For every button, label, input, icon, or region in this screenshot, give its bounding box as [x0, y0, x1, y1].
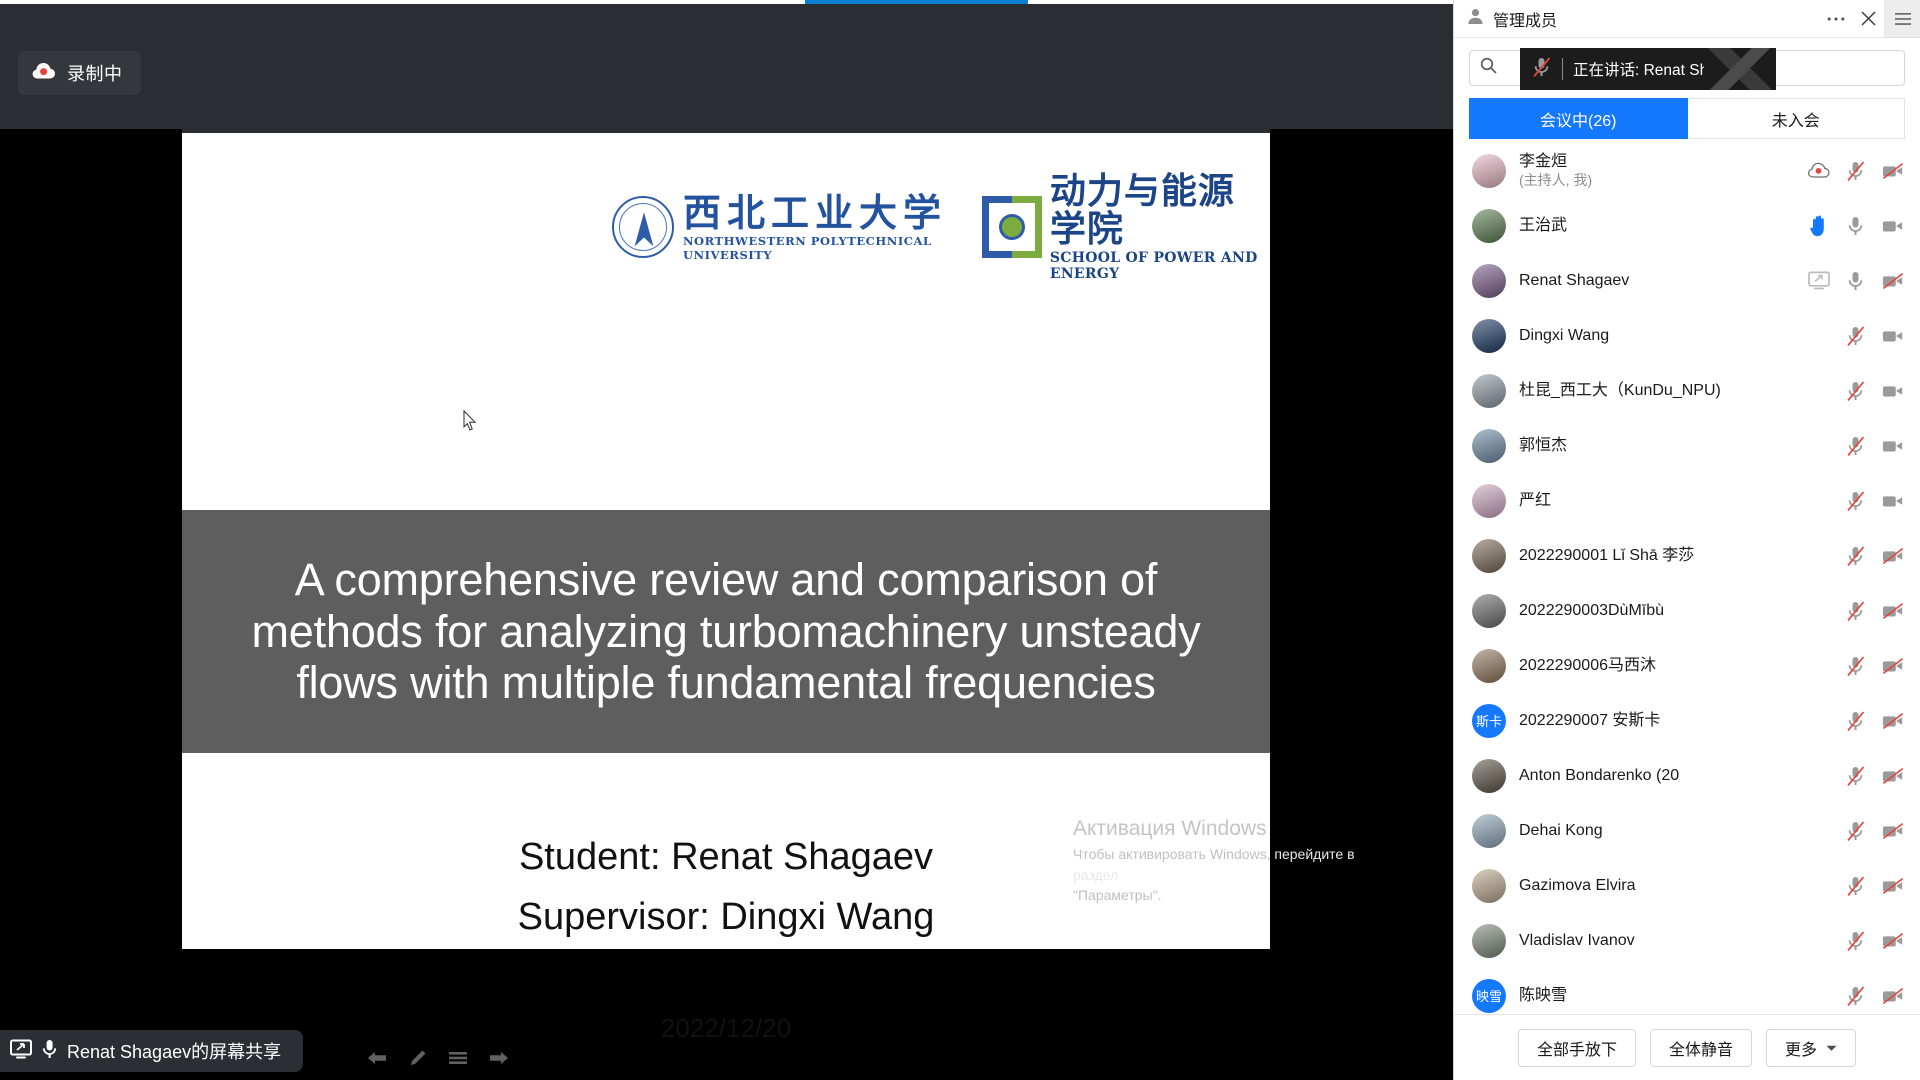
record-cloud-icon[interactable]	[1808, 160, 1830, 182]
menu-icon[interactable]	[449, 1051, 467, 1070]
participant-row[interactable]: Dingxi Wang	[1454, 308, 1920, 363]
video-off-icon[interactable]	[1882, 655, 1904, 677]
participant-name-block: 2022290006马西沐	[1519, 656, 1656, 676]
stage-letterbox-left	[0, 129, 182, 949]
video-off-icon[interactable]	[1882, 270, 1904, 292]
next-arrow-icon[interactable]	[489, 1050, 509, 1071]
participant-status-icons	[1845, 820, 1904, 842]
video-on-icon[interactable]	[1882, 325, 1904, 347]
participant-name-block: Anton Bondarenko (20	[1519, 766, 1679, 786]
avatar	[1472, 869, 1506, 903]
participant-name: Vladislav Ivanov	[1519, 931, 1635, 951]
npu-logo-en: NORTHWESTERN POLYTECHNICAL UNIVERSITY	[683, 234, 952, 262]
screen-share-icon[interactable]	[1808, 270, 1830, 292]
avatar	[1472, 814, 1506, 848]
avatar	[1472, 374, 1506, 408]
recording-indicator[interactable]: 录制中	[18, 51, 141, 95]
video-off-icon[interactable]	[1882, 160, 1904, 182]
mic-muted-icon[interactable]	[1845, 600, 1867, 622]
participant-name-block: Dingxi Wang	[1519, 326, 1609, 346]
participant-name: Gazimova Elvira	[1519, 876, 1635, 896]
mic-muted-icon[interactable]	[1845, 160, 1867, 182]
participant-name: 王治武	[1519, 216, 1567, 236]
avatar	[1472, 264, 1506, 298]
avatar	[1472, 649, 1506, 683]
participant-name-block: 陈映雪	[1519, 986, 1567, 1006]
cloud-record-icon	[32, 62, 56, 85]
avatar	[1472, 539, 1506, 573]
mic-muted-icon[interactable]	[1845, 765, 1867, 787]
ellipsis-icon[interactable]	[1820, 0, 1852, 37]
avatar	[1472, 924, 1506, 958]
avatar	[1472, 759, 1506, 793]
mic-muted-icon[interactable]	[1845, 820, 1867, 842]
participant-status-icons	[1845, 545, 1904, 567]
screen-share-status-text: Renat Shagaev的屏幕共享	[67, 1038, 281, 1064]
participant-name-block: 2022290003DùMībù	[1519, 601, 1664, 621]
chevron-down-icon	[1826, 1039, 1837, 1057]
video-off-icon[interactable]	[1882, 545, 1904, 567]
avatar	[1472, 319, 1506, 353]
mic-muted-icon[interactable]	[1845, 490, 1867, 512]
tab-in-meeting[interactable]: 会议中(26)	[1469, 98, 1688, 139]
zoom-meeting-screen: 录制中 西北工业大学 NORTHWESTERN POLYTECHNICAL UN…	[0, 0, 1920, 1080]
mic-muted-icon[interactable]	[1845, 655, 1867, 677]
participant-row[interactable]: 严红	[1454, 473, 1920, 528]
participant-status-icons	[1845, 655, 1904, 677]
video-on-icon[interactable]	[1882, 215, 1904, 237]
tab-not-joined[interactable]: 未入会	[1688, 98, 1906, 139]
participant-name-block: Vladislav Ivanov	[1519, 931, 1635, 951]
video-off-icon[interactable]	[1882, 600, 1904, 622]
participant-status-icons	[1845, 490, 1904, 512]
panel-header: 管理成员	[1454, 0, 1920, 38]
video-on-icon[interactable]	[1882, 380, 1904, 402]
spe-logo-cn: 动力与能源学院	[1050, 173, 1270, 249]
participant-row[interactable]: 2022290003DùMībù	[1454, 583, 1920, 638]
participant-name: 李金烜	[1519, 152, 1592, 172]
mute-all-button[interactable]: 全体静音	[1650, 1029, 1752, 1067]
video-off-icon[interactable]	[1882, 930, 1904, 952]
presentation-slide: 西北工业大学 NORTHWESTERN POLYTECHNICAL UNIVER…	[182, 133, 1270, 949]
participant-name: 2022290007 安斯卡	[1519, 711, 1660, 731]
panel-title: 管理成员	[1493, 7, 1557, 31]
participant-status-icons	[1845, 875, 1904, 897]
participant-status-icons	[1845, 985, 1904, 1007]
participant-name: Anton Bondarenko (20	[1519, 766, 1679, 786]
mic-muted-icon[interactable]	[1845, 380, 1867, 402]
participant-row[interactable]: Dehai Kong	[1454, 803, 1920, 858]
participant-status-icons	[1845, 380, 1904, 402]
more-button[interactable]: 更多	[1766, 1029, 1856, 1067]
participant-name: Dingxi Wang	[1519, 326, 1609, 346]
participant-name-block: 郭恒杰	[1519, 436, 1567, 456]
npu-seal-icon	[612, 196, 674, 258]
participant-name: 严红	[1519, 491, 1551, 511]
stage-letterbox-right	[1270, 129, 1453, 949]
participant-status-icons	[1845, 710, 1904, 732]
toast-artifact	[1704, 48, 1776, 90]
close-icon[interactable]	[1852, 0, 1884, 37]
mic-muted-icon[interactable]	[1845, 545, 1867, 567]
participant-name: 2022290003DùMībù	[1519, 601, 1664, 621]
slide-body: Student: Renat Shagaev Supervisor: Dingx…	[182, 753, 1270, 949]
participant-status-icons	[1845, 325, 1904, 347]
lower-all-hands-button[interactable]: 全部手放下	[1518, 1029, 1636, 1067]
mic-muted-icon[interactable]	[1845, 985, 1867, 1007]
slide-logo-area: 西北工业大学 NORTHWESTERN POLYTECHNICAL UNIVER…	[182, 133, 1270, 384]
active-speaker-toast: 正在讲话: Renat Shagaev;	[1520, 48, 1776, 90]
participant-status-icons	[1845, 600, 1904, 622]
participant-name-block: Renat Shagaev	[1519, 271, 1629, 291]
avatar: 斯卡	[1472, 704, 1506, 738]
school-of-power-and-energy-logo: 动力与能源学院 SCHOOL OF POWER AND ENERGY	[982, 173, 1270, 282]
slide-student-line: Student: Renat Shagaev	[182, 836, 1270, 879]
ppt-presenter-toolbar[interactable]	[367, 1049, 509, 1072]
video-off-icon[interactable]	[1882, 820, 1904, 842]
raise-hand-icon[interactable]	[1808, 215, 1830, 237]
participant-name: Renat Shagaev	[1519, 271, 1629, 291]
spe-mark-icon	[982, 196, 1042, 258]
slide-title: A comprehensive review and comparison of…	[204, 554, 1249, 709]
participant-name-block: 2022290007 安斯卡	[1519, 711, 1660, 731]
participant-name-block: Gazimova Elvira	[1519, 876, 1635, 896]
participant-name: 杜昆_西工大（KunDu_NPU)	[1519, 381, 1721, 401]
avatar	[1472, 594, 1506, 628]
panel-search-area: 正在讲话: Renat Shagaev;	[1454, 38, 1920, 86]
participant-role: (主持人, 我)	[1519, 172, 1592, 189]
participant-row[interactable]: 2022290006马西沐	[1454, 638, 1920, 693]
participant-status-icons	[1808, 215, 1904, 237]
mic-muted-icon[interactable]	[1845, 875, 1867, 897]
screen-share-status-bar[interactable]: Renat Shagaev的屏幕共享	[0, 1030, 303, 1072]
participant-name-block: Dehai Kong	[1519, 821, 1603, 841]
participant-row[interactable]: Vladislav Ivanov	[1454, 913, 1920, 968]
more-button-label: 更多	[1785, 1036, 1817, 1060]
participant-row[interactable]: 杜昆_西工大（KunDu_NPU)	[1454, 363, 1920, 418]
participant-status-icons	[1845, 930, 1904, 952]
slide-date: 2022/12/20	[182, 1013, 1270, 1044]
video-on-icon[interactable]	[1882, 490, 1904, 512]
slide-supervisor-line: Supervisor: Dingxi Wang	[182, 896, 1270, 939]
participant-name-block: 2022290001 Lǐ Shā 李莎	[1519, 546, 1694, 566]
participant-name: 2022290001 Lǐ Shā 李莎	[1519, 546, 1694, 566]
participant-name-block: 李金烜(主持人, 我)	[1519, 152, 1592, 189]
video-off-icon[interactable]	[1882, 875, 1904, 897]
participant-row[interactable]: 斯卡2022290007 安斯卡	[1454, 693, 1920, 748]
hamburger-icon[interactable]	[1884, 0, 1920, 37]
avatar	[1472, 209, 1506, 243]
participant-row[interactable]: 王治武	[1454, 198, 1920, 253]
participant-list[interactable]: 李金烜(主持人, 我) 王治武 Renat Shagaev Dingx	[1454, 139, 1920, 1014]
participant-status-icons	[1845, 435, 1904, 457]
participant-row[interactable]: Gazimova Elvira	[1454, 858, 1920, 913]
panel-tabs: 会议中(26) 未入会	[1454, 86, 1920, 139]
participant-name: 陈映雪	[1519, 986, 1567, 1006]
video-off-icon[interactable]	[1882, 765, 1904, 787]
mic-muted-icon[interactable]	[1845, 435, 1867, 457]
mic-on-icon[interactable]	[1845, 270, 1867, 292]
participant-row[interactable]: 李金烜(主持人, 我)	[1454, 143, 1920, 198]
mic-muted-icon[interactable]	[1845, 710, 1867, 732]
participant-status-icons	[1845, 765, 1904, 787]
participant-row[interactable]: 郭恒杰	[1454, 418, 1920, 473]
participant-name-block: 王治武	[1519, 216, 1567, 236]
spe-logo-en: SCHOOL OF POWER AND ENERGY	[1050, 250, 1270, 282]
avatar	[1472, 429, 1506, 463]
person-icon	[1467, 8, 1484, 30]
participant-status-icons	[1808, 160, 1904, 182]
prev-arrow-icon[interactable]	[367, 1050, 387, 1071]
video-off-icon[interactable]	[1882, 985, 1904, 1007]
npu-logo: 西北工业大学 NORTHWESTERN POLYTECHNICAL UNIVER…	[612, 193, 952, 262]
participant-name-block: 严红	[1519, 491, 1551, 511]
pen-icon[interactable]	[409, 1049, 427, 1072]
npu-logo-cn: 西北工业大学	[683, 193, 952, 233]
mic-muted-icon	[1532, 56, 1552, 83]
slide-title-band: A comprehensive review and comparison of…	[182, 510, 1270, 753]
participants-panel: 管理成员	[1453, 0, 1920, 1080]
avatar: 映雪	[1472, 979, 1506, 1013]
video-on-icon[interactable]	[1882, 435, 1904, 457]
participant-row[interactable]: 映雪陈映雪	[1454, 968, 1920, 1014]
avatar	[1472, 484, 1506, 518]
participant-name: 2022290006马西沐	[1519, 656, 1656, 676]
panel-footer: 全部手放下 全体静音 更多	[1454, 1014, 1920, 1080]
microphone-icon	[42, 1039, 57, 1064]
avatar	[1472, 154, 1506, 188]
participant-name-block: 杜昆_西工大（KunDu_NPU)	[1519, 381, 1721, 401]
toast-divider	[1562, 58, 1563, 80]
mic-on-icon[interactable]	[1845, 215, 1867, 237]
mic-muted-icon[interactable]	[1845, 325, 1867, 347]
participant-row[interactable]: 2022290001 Lǐ Shā 李莎	[1454, 528, 1920, 583]
screen-share-icon	[10, 1039, 32, 1064]
search-icon	[1480, 57, 1497, 79]
participant-row[interactable]: Renat Shagaev	[1454, 253, 1920, 308]
participant-status-icons	[1808, 270, 1904, 292]
recording-label: 录制中	[67, 60, 123, 86]
participant-row[interactable]: Anton Bondarenko (20	[1454, 748, 1920, 803]
participant-name: 郭恒杰	[1519, 436, 1567, 456]
shared-screen-stage: 录制中 西北工业大学 NORTHWESTERN POLYTECHNICAL UN…	[0, 4, 1453, 1080]
video-off-icon[interactable]	[1882, 710, 1904, 732]
mic-muted-icon[interactable]	[1845, 930, 1867, 952]
participant-name: Dehai Kong	[1519, 821, 1603, 841]
